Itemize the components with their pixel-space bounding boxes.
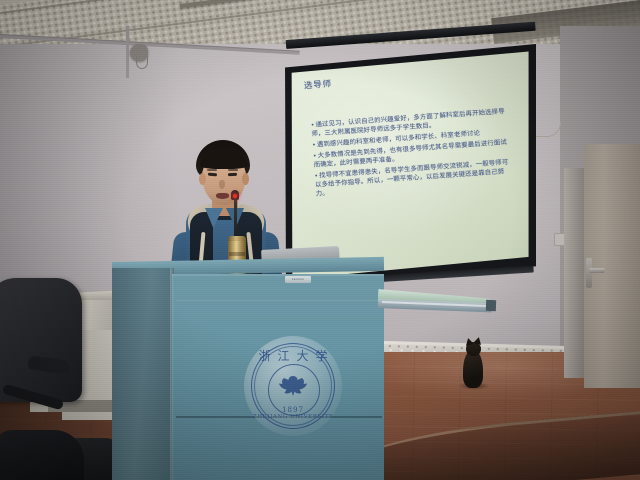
door-lock-plate	[586, 258, 592, 288]
presenter-eyebrow-right	[228, 169, 238, 171]
door[interactable]	[584, 144, 640, 388]
keyboard-tray-end-cap	[486, 300, 496, 311]
podium-front-edge-highlight	[170, 268, 174, 480]
presenter-eyebrow-left	[207, 169, 217, 171]
podium-side-panel	[112, 268, 174, 480]
slide-title: 选导师	[304, 77, 333, 91]
presenter-ear-right	[242, 173, 249, 185]
podium-upper-seam	[176, 300, 382, 301]
emblem-english-name: ZHEJIANG UNIVERSITY	[244, 414, 342, 420]
emblem-founding-year: 1897	[244, 406, 342, 414]
presenter-nose	[219, 180, 225, 189]
photo-scene: 选导师 通过见习，认识自己的兴趣爱好，多方面了解科室后再开始选择导师，三大附属医…	[0, 0, 640, 480]
emblem-chinese-name: 浙江大学	[244, 347, 342, 364]
door-handle[interactable]	[589, 268, 605, 273]
podium-brand-label: Lenovo	[285, 276, 311, 283]
office-chair-base	[0, 430, 84, 480]
presenter-eye-right	[228, 173, 237, 176]
presenter-eye-left	[208, 173, 217, 176]
office-chair-back[interactable]	[0, 278, 82, 402]
microphone-led-indicator	[233, 194, 237, 198]
black-cat	[457, 336, 491, 388]
qiushi-eagle-icon	[278, 372, 308, 400]
conduit-drop	[126, 26, 129, 78]
ceiling-light-bracket	[136, 56, 148, 69]
university-emblem: 浙江大学 1897 ZHEJIANG UNIVERSITY	[244, 336, 342, 436]
thermos-band	[229, 252, 245, 256]
microphone-stem	[234, 196, 237, 240]
presenter-ear-left	[199, 173, 206, 185]
presenter-mouth	[216, 193, 229, 199]
thermos-cap[interactable]	[228, 236, 246, 241]
slide-body: 通过见习，认识自己的兴趣爱好，多方面了解科室后再开始选择导师，三大附属医院好导师…	[311, 107, 512, 200]
door-jamb	[564, 168, 584, 378]
